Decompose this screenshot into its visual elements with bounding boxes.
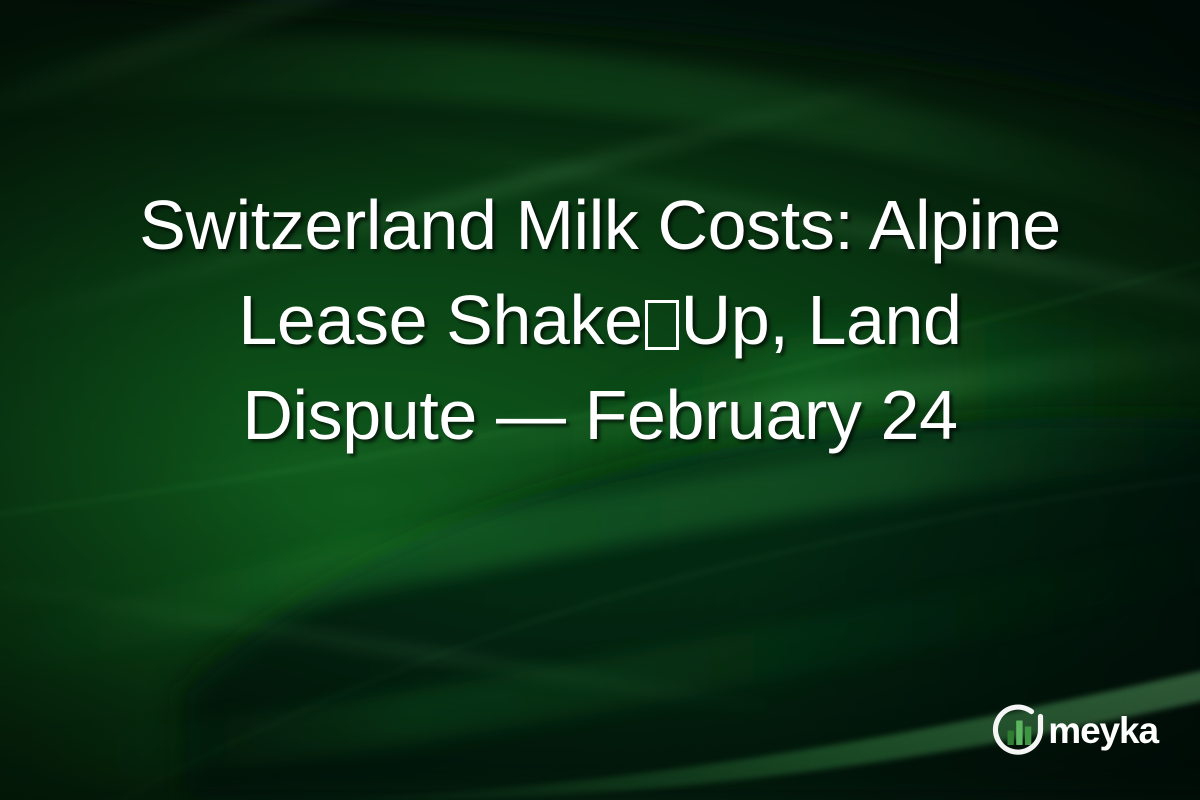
page-title: Switzerland Milk Costs: Alpine Lease Sha… xyxy=(0,178,1200,463)
light-streak xyxy=(0,0,916,175)
meyka-ring-chart-icon xyxy=(990,702,1046,758)
title-line-2: Lease ShakeUp, Land xyxy=(56,273,1144,368)
meyka-logo: meyka xyxy=(990,702,1158,758)
title-line-2-after: Up, Land xyxy=(681,281,962,359)
title-line-3: Dispute — February 24 xyxy=(56,368,1144,463)
meyka-wordmark: meyka xyxy=(1048,712,1158,749)
title-line-1: Switzerland Milk Costs: Alpine xyxy=(56,178,1144,273)
missing-glyph-box-icon xyxy=(645,300,679,350)
title-line-2-before: Lease Shake xyxy=(238,281,642,359)
light-streak xyxy=(0,560,769,715)
cover-card: Switzerland Milk Costs: Alpine Lease Sha… xyxy=(0,0,1200,800)
